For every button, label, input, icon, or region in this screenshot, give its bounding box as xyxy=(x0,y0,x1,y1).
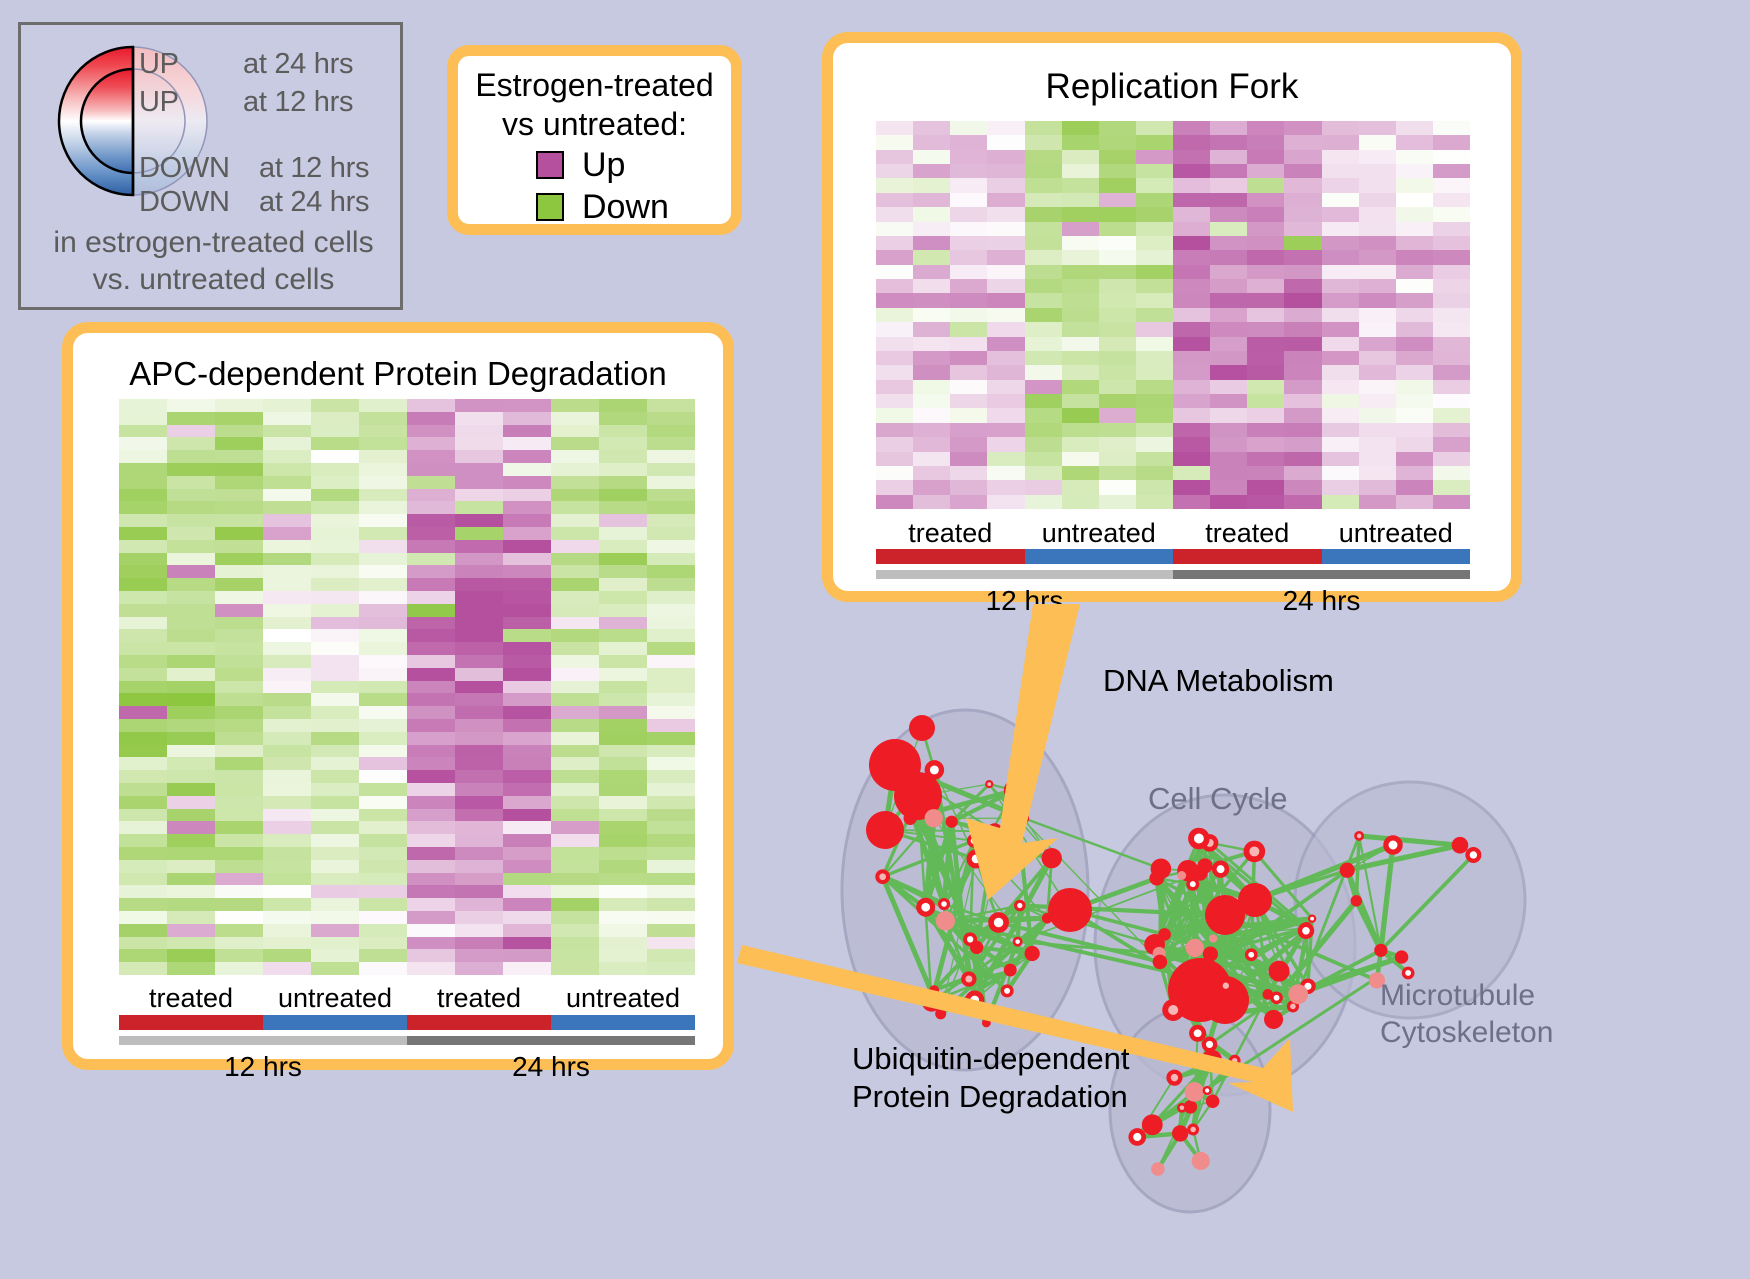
heatmap-cell xyxy=(1136,150,1173,164)
heatmap-cell xyxy=(119,757,167,770)
network-node xyxy=(1151,1162,1165,1176)
heatmap-cell xyxy=(407,553,455,566)
heatmap-cell xyxy=(1136,121,1173,135)
heatmap-cell xyxy=(1322,351,1359,365)
condition-label: treated xyxy=(407,983,551,1014)
heatmap-cell xyxy=(311,501,359,514)
up-label: Up xyxy=(582,148,625,182)
heatmap-cell xyxy=(215,770,263,783)
network-node xyxy=(1212,861,1229,878)
heatmap-cell xyxy=(503,540,551,553)
network-node xyxy=(936,911,955,930)
heatmap-cell xyxy=(215,834,263,847)
heatmap-cell xyxy=(876,121,913,135)
heatmap-cell xyxy=(1062,207,1099,221)
heatmap-cell xyxy=(407,809,455,822)
bar-treated-12 xyxy=(876,549,1025,564)
heatmap-cell xyxy=(950,351,987,365)
network-node xyxy=(1192,1152,1210,1170)
heatmap-cell xyxy=(311,578,359,591)
heatmap-cell xyxy=(503,821,551,834)
heatmap-cell xyxy=(551,412,599,425)
heatmap-cell xyxy=(215,757,263,770)
heatmap-cell xyxy=(876,351,913,365)
network-node xyxy=(904,812,917,825)
heatmap-cell xyxy=(987,351,1024,365)
heatmap-cell xyxy=(599,770,647,783)
panel-replication-fork: Replication Fork treated untreated treat… xyxy=(822,32,1522,602)
heatmap-cell xyxy=(876,423,913,437)
heatmap-cell xyxy=(1359,193,1396,207)
network-node xyxy=(1142,1114,1163,1135)
heatmap-cell xyxy=(1099,193,1136,207)
heatmap-cell xyxy=(167,860,215,873)
heatmap-cell xyxy=(1173,452,1210,466)
heatmap-cell xyxy=(913,452,950,466)
heatmap-cell xyxy=(987,250,1024,264)
heatmap-cell xyxy=(551,809,599,822)
network-node xyxy=(1013,937,1023,947)
heatmap-cell xyxy=(913,337,950,351)
heatmap-cell xyxy=(119,655,167,668)
label-microtubule-cytoskeleton: Microtubule Cytoskeleton xyxy=(1380,978,1553,1051)
heatmap-cell xyxy=(263,706,311,719)
heatmap-cell xyxy=(167,629,215,642)
heatmap-cell xyxy=(407,450,455,463)
heatmap-cell xyxy=(1433,150,1470,164)
heatmap-cell xyxy=(1396,135,1433,149)
heatmap-cell xyxy=(551,450,599,463)
heatmap-cell xyxy=(1322,164,1359,178)
heatmap-cell xyxy=(311,809,359,822)
network-node xyxy=(946,816,958,828)
heatmap-cell xyxy=(119,898,167,911)
heatmap-cell xyxy=(599,629,647,642)
heatmap-cell xyxy=(503,463,551,476)
heatmap-cell xyxy=(1099,178,1136,192)
heatmap-cell xyxy=(455,565,503,578)
heatmap-cell xyxy=(1025,164,1062,178)
heatmap-cell xyxy=(311,873,359,886)
heatmap-cell xyxy=(1396,466,1433,480)
heatmap-cell xyxy=(1247,365,1284,379)
legend-item-up: Up xyxy=(536,148,625,182)
heatmap-cell xyxy=(167,540,215,553)
heatmap-cell xyxy=(1025,495,1062,509)
heatmap-cell xyxy=(311,949,359,962)
network-node xyxy=(1374,944,1387,957)
heatmap-cell xyxy=(551,425,599,438)
heatmap-cell xyxy=(359,437,407,450)
network-node xyxy=(1025,946,1040,961)
heatmap-cell xyxy=(455,809,503,822)
heatmap-cell xyxy=(167,412,215,425)
heatmap-cell xyxy=(1284,135,1321,149)
heatmap-cell xyxy=(1359,135,1396,149)
label-dna-metabolism: DNA Metabolism xyxy=(1103,662,1334,699)
heatmap-cell xyxy=(1247,265,1284,279)
heatmap-cell xyxy=(1322,178,1359,192)
apc-time-bar xyxy=(119,1036,695,1045)
heatmap-cell xyxy=(119,706,167,719)
heatmap-cell xyxy=(119,629,167,642)
heatmap-cell xyxy=(455,821,503,834)
heatmap-cell xyxy=(1322,293,1359,307)
heatmap-cell xyxy=(950,322,987,336)
heatmap-cell xyxy=(599,591,647,604)
heatmap-cell xyxy=(167,681,215,694)
network-node xyxy=(938,898,950,910)
heatmap-cell xyxy=(950,423,987,437)
heatmap-cell xyxy=(647,540,695,553)
heatmap-cell xyxy=(119,809,167,822)
heatmap-cell xyxy=(913,423,950,437)
heatmap-cell xyxy=(119,847,167,860)
heatmap-cell xyxy=(311,617,359,630)
heatmap-cell xyxy=(1359,250,1396,264)
heatmap-cell xyxy=(215,668,263,681)
heatmap-cell xyxy=(215,937,263,950)
heatmap-cell xyxy=(167,617,215,630)
heatmap-cell xyxy=(1025,351,1062,365)
heatmap-cell xyxy=(167,911,215,924)
heatmap-cell xyxy=(311,642,359,655)
heatmap-cell xyxy=(913,351,950,365)
heatmap-cell xyxy=(407,706,455,719)
heatmap-cell xyxy=(647,412,695,425)
network-node xyxy=(1245,948,1258,961)
heatmap-cell xyxy=(215,578,263,591)
heatmap-cell xyxy=(359,873,407,886)
heatmap-cell xyxy=(1359,265,1396,279)
heatmap-cell xyxy=(1359,466,1396,480)
heatmap-cell xyxy=(1025,308,1062,322)
heatmap-cell xyxy=(263,873,311,886)
heatmap-cell xyxy=(1433,121,1470,135)
heatmap-cell xyxy=(1433,351,1470,365)
heatmap-cell xyxy=(1136,236,1173,250)
bar-24hrs xyxy=(407,1036,695,1045)
heatmap-cell xyxy=(167,834,215,847)
heatmap-cell xyxy=(1284,365,1321,379)
heatmap-cell xyxy=(1210,437,1247,451)
heatmap-cell xyxy=(503,757,551,770)
heatmap-cell xyxy=(647,962,695,975)
heatmap-cell xyxy=(119,565,167,578)
heatmap-cell xyxy=(359,501,407,514)
heatmap-cell xyxy=(503,425,551,438)
heatmap-cell xyxy=(1210,150,1247,164)
heatmap-cell xyxy=(215,924,263,937)
heatmap-cell xyxy=(1433,178,1470,192)
heatmap-cell xyxy=(1173,322,1210,336)
heatmap-cell xyxy=(1359,308,1396,322)
heatmap-cell xyxy=(1284,480,1321,494)
heatmap-cell xyxy=(1322,193,1359,207)
network-node xyxy=(1197,858,1212,873)
heatmap-cell xyxy=(1099,293,1136,307)
heatmap-cell xyxy=(551,693,599,706)
network-node xyxy=(1215,1007,1228,1020)
heatmap-cell xyxy=(1247,495,1284,509)
heatmap-cell xyxy=(551,553,599,566)
heatmap-cell xyxy=(987,222,1024,236)
heatmap-cell xyxy=(1396,250,1433,264)
heatmap-cell xyxy=(311,514,359,527)
heatmap-cell xyxy=(503,962,551,975)
heatmap-cell xyxy=(1210,480,1247,494)
network-node xyxy=(1206,1094,1220,1108)
heatmap-cell xyxy=(503,412,551,425)
heatmap-cell xyxy=(551,949,599,962)
heatmap-cell xyxy=(1062,322,1099,336)
heatmap-cell xyxy=(263,681,311,694)
heatmap-cell xyxy=(119,450,167,463)
heatmap-cell xyxy=(119,745,167,758)
heatmap-cell xyxy=(876,452,913,466)
heatmap-cell xyxy=(167,962,215,975)
heatmap-cell xyxy=(1359,207,1396,221)
heatmap-cell xyxy=(1099,250,1136,264)
heatmap-cell xyxy=(599,655,647,668)
heatmap-cell xyxy=(1173,222,1210,236)
heatmap-cell xyxy=(263,783,311,796)
heatmap-cell xyxy=(407,834,455,847)
heatmap-cell xyxy=(311,719,359,732)
heatmap-cell xyxy=(167,553,215,566)
heatmap-cell xyxy=(1359,495,1396,509)
heatmap-cell xyxy=(1247,250,1284,264)
heatmap-cell xyxy=(311,937,359,950)
network-node xyxy=(1149,871,1164,886)
heatmap-cell xyxy=(1210,250,1247,264)
heatmap-cell xyxy=(876,222,913,236)
heatmap-cell xyxy=(647,399,695,412)
heatmap-cell xyxy=(407,668,455,681)
heatmap-cell xyxy=(1210,178,1247,192)
heatmap-cell xyxy=(119,719,167,732)
heatmap-cell xyxy=(1396,337,1433,351)
heatmap-cell xyxy=(1025,337,1062,351)
heatmap-cell xyxy=(1136,250,1173,264)
heatmap-cell xyxy=(215,949,263,962)
heatmap-cell xyxy=(1322,308,1359,322)
heatmap-cell xyxy=(407,732,455,745)
heatmap-cell xyxy=(215,911,263,924)
heatmap-cell xyxy=(1284,322,1321,336)
heatmap-cell xyxy=(599,745,647,758)
heatmap-cell xyxy=(407,821,455,834)
heatmap-cell xyxy=(455,642,503,655)
heatmap-cell xyxy=(359,565,407,578)
heatmap-cell xyxy=(311,911,359,924)
heatmap-cell xyxy=(647,885,695,898)
heatmap-cell xyxy=(1247,308,1284,322)
heatmap-cell xyxy=(167,578,215,591)
heatmap-cell xyxy=(1136,337,1173,351)
heatmap-cell xyxy=(215,501,263,514)
colorwheel-caption: in estrogen-treated cells vs. untreated … xyxy=(21,225,406,298)
heatmap-cell xyxy=(263,437,311,450)
heatmap-cell xyxy=(1173,207,1210,221)
heatmap-cell xyxy=(311,796,359,809)
heatmap-cell xyxy=(215,962,263,975)
heatmap-cell xyxy=(359,527,407,540)
heatmap-cell xyxy=(950,236,987,250)
heatmap-cell xyxy=(119,770,167,783)
heatmap-cell xyxy=(455,540,503,553)
heatmap-cell xyxy=(599,437,647,450)
heatmap-cell xyxy=(503,796,551,809)
heatmap-cell xyxy=(311,783,359,796)
heatmap-cell xyxy=(263,553,311,566)
wheel-sublabel-24hrs-up: at 24 hrs xyxy=(243,48,353,81)
heatmap-cell xyxy=(647,437,695,450)
heatmap-cell xyxy=(1210,466,1247,480)
heatmap-cell xyxy=(407,911,455,924)
heatmap-cell xyxy=(167,437,215,450)
network-node xyxy=(925,760,945,780)
heatmap-cell xyxy=(1322,380,1359,394)
bar-untreated-24 xyxy=(1322,549,1471,564)
heatmap-cell xyxy=(599,847,647,860)
heatmap-cell xyxy=(1025,322,1062,336)
heatmap-cell xyxy=(1396,178,1433,192)
heatmap-cell xyxy=(1396,452,1433,466)
heatmap-cell xyxy=(913,495,950,509)
heatmap-cell xyxy=(1025,452,1062,466)
heatmap-cell xyxy=(455,617,503,630)
heatmap-cell xyxy=(119,911,167,924)
heatmap-cell xyxy=(1284,222,1321,236)
heatmap-cell xyxy=(167,719,215,732)
heatmap-cell xyxy=(1433,279,1470,293)
heatmap-cell xyxy=(1322,279,1359,293)
heatmap-cell xyxy=(407,693,455,706)
heatmap-cell xyxy=(1210,351,1247,365)
heatmap-cell xyxy=(359,924,407,937)
heatmap-cell xyxy=(647,514,695,527)
heatmap-cell xyxy=(311,898,359,911)
heatmap-cell xyxy=(455,770,503,783)
colorwheel-legend-box: UP at 24 hrs UP at 12 hrs DOWN at 12 hrs… xyxy=(18,22,403,310)
heatmap-cell xyxy=(1173,466,1210,480)
heatmap-cell xyxy=(1210,408,1247,422)
network-node xyxy=(1209,934,1217,942)
heatmap-cell xyxy=(503,501,551,514)
heatmap-cell xyxy=(647,489,695,502)
bar-treated-24 xyxy=(407,1015,551,1030)
heatmap-cell xyxy=(311,821,359,834)
heatmap-cell xyxy=(551,732,599,745)
heatmap-cell xyxy=(1062,279,1099,293)
heatmap-cell xyxy=(1173,279,1210,293)
heatmap-cell xyxy=(359,949,407,962)
heatmap-cell xyxy=(407,463,455,476)
heatmap-cell xyxy=(311,834,359,847)
heatmap-cell xyxy=(455,514,503,527)
heatmap-cell xyxy=(1322,365,1359,379)
heatmap-cell xyxy=(359,757,407,770)
heatmap-cell xyxy=(263,860,311,873)
heatmap-cell xyxy=(599,681,647,694)
heatmap-cell xyxy=(359,693,407,706)
heatmap-cell xyxy=(503,553,551,566)
heatmap-cell xyxy=(1136,279,1173,293)
network-node xyxy=(1202,1037,1218,1053)
heatmap-cell xyxy=(1099,495,1136,509)
heatmap-cell xyxy=(551,514,599,527)
heatmap-cell xyxy=(503,732,551,745)
heatmap-cell xyxy=(407,642,455,655)
time-label-12: 12 hrs xyxy=(119,1051,407,1083)
heatmap-cell xyxy=(1136,452,1173,466)
heatmap-cell xyxy=(119,437,167,450)
heatmap-cell xyxy=(599,898,647,911)
network-node xyxy=(1395,950,1408,963)
heatmap-cell xyxy=(1359,480,1396,494)
heatmap-cell xyxy=(407,514,455,527)
heatmap-cell xyxy=(215,847,263,860)
heatmap-cell xyxy=(950,308,987,322)
heatmap-cell xyxy=(987,236,1024,250)
heatmap-cell xyxy=(599,809,647,822)
heatmap-cell xyxy=(263,412,311,425)
heatmap-cell xyxy=(119,962,167,975)
heatmap-cell xyxy=(1433,293,1470,307)
heatmap-cell xyxy=(1173,265,1210,279)
heatmap-cell xyxy=(950,337,987,351)
heatmap-cell xyxy=(503,745,551,758)
heatmap-cell xyxy=(311,745,359,758)
heatmap-cell xyxy=(647,757,695,770)
heatmap-cell xyxy=(876,164,913,178)
heatmap-cell xyxy=(1284,394,1321,408)
heatmap-cell xyxy=(359,489,407,502)
heatmap-cell xyxy=(359,629,407,642)
heatmap-cell xyxy=(647,629,695,642)
heatmap-cell xyxy=(1025,480,1062,494)
heatmap-cell xyxy=(215,540,263,553)
heatmap-cell xyxy=(215,783,263,796)
network-node xyxy=(1177,1103,1187,1113)
condition-label: untreated xyxy=(551,983,695,1014)
heatmap-cell xyxy=(455,501,503,514)
heatmap-cell xyxy=(407,565,455,578)
heatmap-cell xyxy=(407,924,455,937)
network-node xyxy=(1042,848,1062,868)
heatmap-cell xyxy=(407,629,455,642)
heatmap-cell xyxy=(119,732,167,745)
label-cell-cycle: Cell Cycle xyxy=(1148,780,1288,817)
updown-legend-box: Estrogen-treated vs untreated: Up Down xyxy=(447,45,742,235)
heatmap-cell xyxy=(1025,365,1062,379)
heatmap-cell xyxy=(1136,265,1173,279)
heatmap-cell xyxy=(1322,121,1359,135)
heatmap-cell xyxy=(913,466,950,480)
heatmap-cell xyxy=(647,860,695,873)
heatmap-cell xyxy=(1322,437,1359,451)
heatmap-cell xyxy=(1173,150,1210,164)
heatmap-cell xyxy=(1173,193,1210,207)
heatmap-cell xyxy=(1136,207,1173,221)
heatmap-cell xyxy=(987,365,1024,379)
heatmap-cell xyxy=(950,394,987,408)
heatmap-cell xyxy=(455,399,503,412)
heatmap-cell xyxy=(599,476,647,489)
heatmap-cell xyxy=(1062,480,1099,494)
condition-label: untreated xyxy=(263,983,407,1014)
